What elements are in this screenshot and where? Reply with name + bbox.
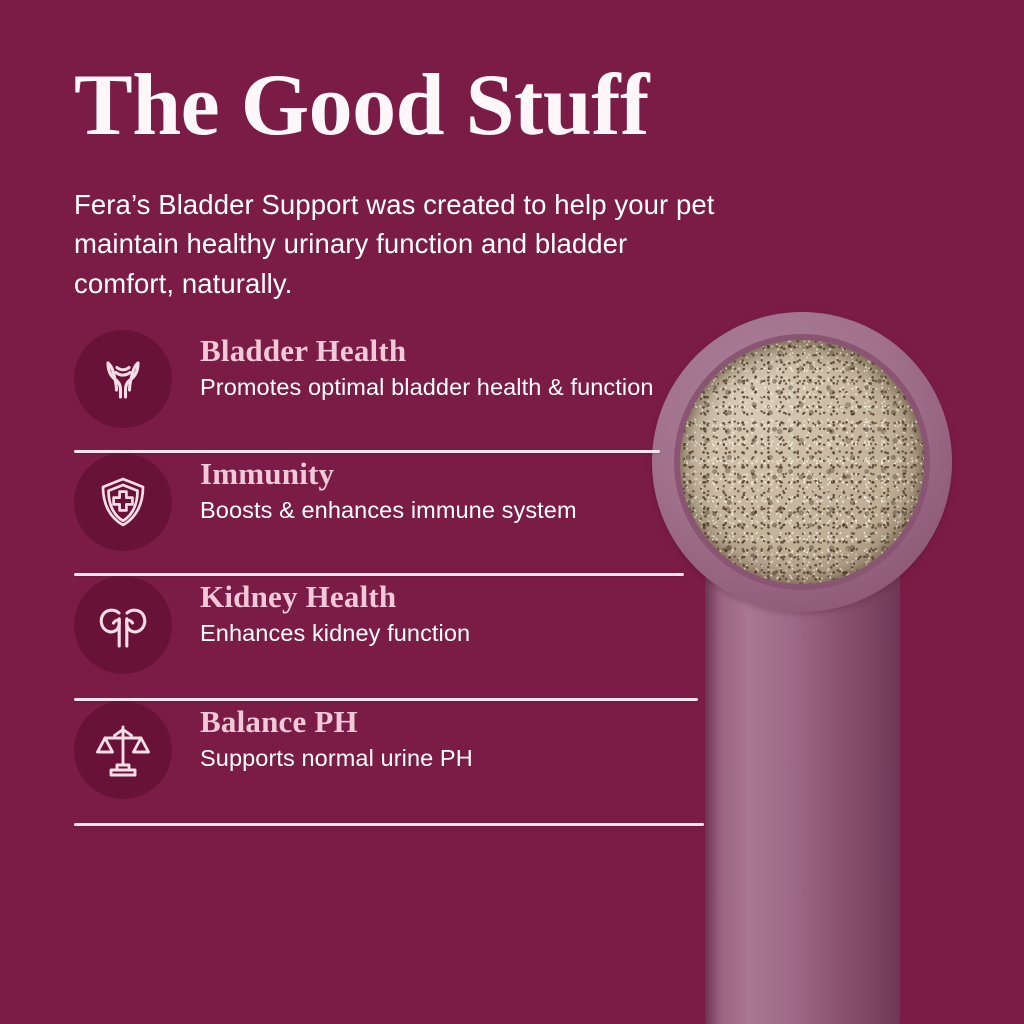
benefit-title: Balance PH xyxy=(200,705,473,740)
benefit-title: Kidney Health xyxy=(200,580,470,615)
benefit-title: Immunity xyxy=(200,457,577,492)
page-title: The Good Stuff xyxy=(74,62,649,150)
balance-scale-icon xyxy=(74,701,172,799)
benefit-description: Enhances kidney function xyxy=(200,618,470,650)
bladder-icon xyxy=(74,330,172,428)
kidneys-icon xyxy=(74,576,172,674)
benefits-list: Bladder Health Promotes optimal bladder … xyxy=(0,330,1024,826)
list-item: Kidney Health Enhances kidney function xyxy=(0,576,1024,701)
benefit-description: Promotes optimal bladder health & functi… xyxy=(200,372,654,404)
list-item: Balance PH Supports normal urine PH xyxy=(0,701,1024,826)
divider xyxy=(74,823,704,826)
list-item: Bladder Health Promotes optimal bladder … xyxy=(0,330,1024,453)
benefit-description: Supports normal urine PH xyxy=(200,743,473,775)
benefit-description: Boosts & enhances immune system xyxy=(200,495,577,527)
shield-cross-icon xyxy=(74,453,172,551)
page-subtitle: Fera’s Bladder Support was created to he… xyxy=(74,185,734,303)
list-item: Immunity Boosts & enhances immune system xyxy=(0,453,1024,576)
infographic-canvas: The Good Stuff Fera’s Bladder Support wa… xyxy=(0,0,1024,1024)
benefit-title: Bladder Health xyxy=(200,334,654,369)
